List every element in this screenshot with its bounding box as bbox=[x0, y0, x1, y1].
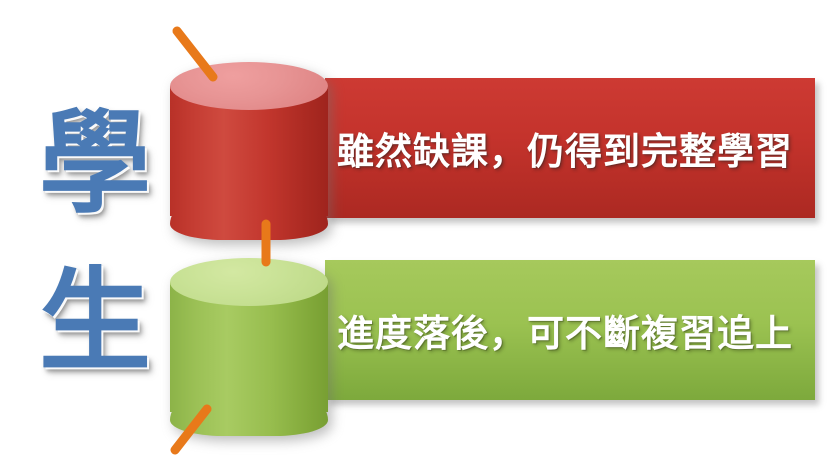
red-cylinder[interactable] bbox=[170, 62, 328, 240]
slide-canvas: 學 生 雖然缺課，仍得到完整學習 進度落後，可不斷複習追上 bbox=[0, 0, 830, 466]
red-banner[interactable]: 雖然缺課，仍得到完整學習 bbox=[325, 78, 815, 218]
green-banner-text: 進度落後，可不斷複習追上 bbox=[337, 303, 793, 357]
student-label-char-2: 生 bbox=[39, 266, 151, 378]
green-cylinder-top bbox=[170, 258, 328, 306]
student-label: 學 生 bbox=[36, 108, 154, 378]
green-banner[interactable]: 進度落後，可不斷複習追上 bbox=[325, 260, 815, 400]
red-cylinder-top bbox=[170, 62, 328, 110]
red-banner-text: 雖然缺課，仍得到完整學習 bbox=[337, 121, 793, 175]
green-cylinder[interactable] bbox=[170, 258, 328, 436]
student-label-char-1: 學 bbox=[39, 108, 151, 220]
